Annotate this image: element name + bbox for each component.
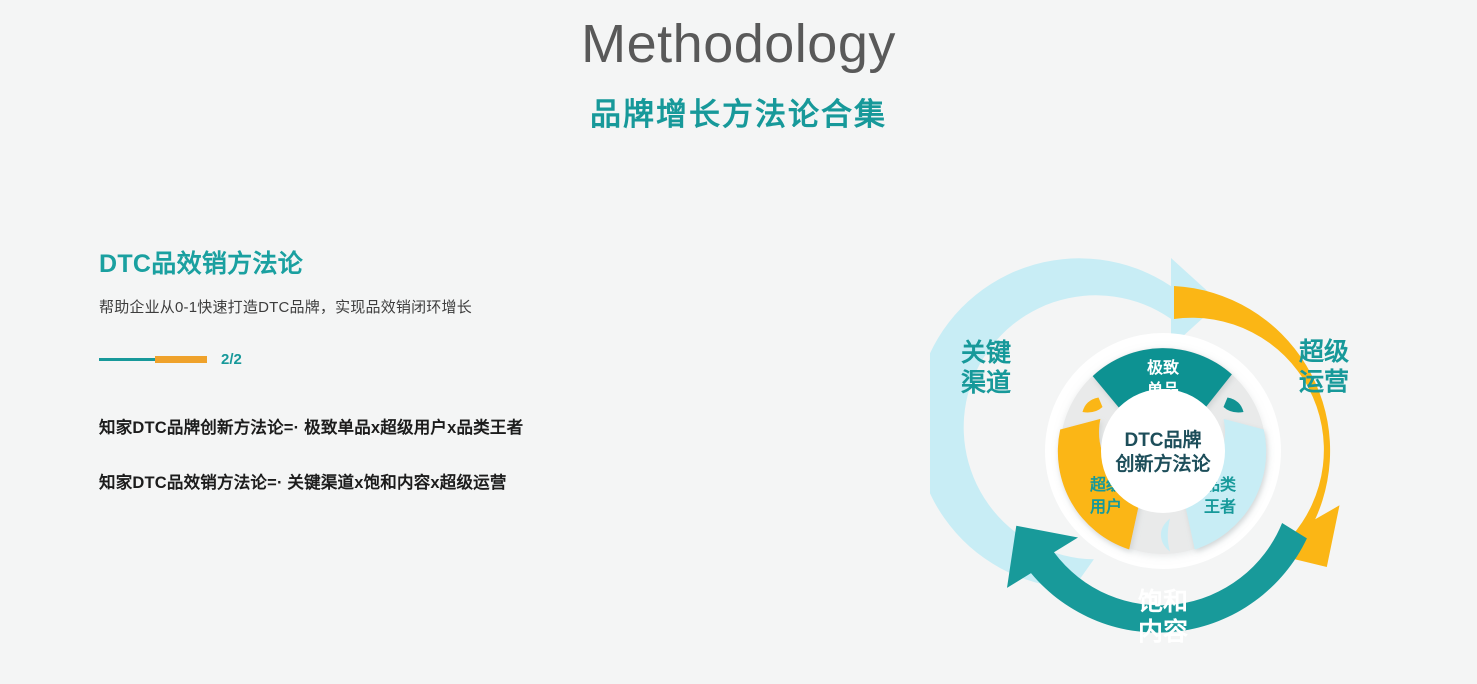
outer-label-saturated-content-line1: 饱和 [1138, 588, 1188, 616]
formula-brand-innovation: 知家DTC品牌创新方法论=· 极致单品x超级用户x品类王者 [99, 414, 659, 438]
cycle-diagram: 关键 渠道 超级 运营 饱和 内容 极致 单品 品类 [930, 218, 1396, 684]
outer-label-super-operation-line2: 运营 [1299, 368, 1349, 396]
outer-label-key-channel-line1: 关键 [961, 338, 1011, 367]
outer-label-super-operation-line1: 超级 [1299, 337, 1349, 366]
inner-label-category-king-line2: 王者 [1204, 497, 1236, 516]
hub-title-line2: 创新方法论 [1114, 452, 1211, 475]
methodology-info-panel: DTC品效销方法论 帮助企业从0-1快速打造DTC品牌，实现品效销闭环增长 2/… [99, 244, 659, 493]
formula-brand-sales: 知家DTC品效销方法论=· 关键渠道x饱和内容x超级运营 [99, 469, 659, 493]
progress-bar-fill [155, 356, 207, 363]
page-header: Methodology 品牌增长方法论合集 [0, 0, 1477, 134]
progress-counter: 2/2 [221, 351, 242, 368]
section-title: DTC品效销方法论 [99, 244, 659, 280]
hub-circle [1101, 389, 1225, 513]
hub-title-line1: DTC品牌 [1124, 428, 1201, 451]
page-subtitle: 品牌增长方法论合集 [0, 89, 1477, 134]
outer-label-saturated-content-line2: 内容 [1138, 617, 1188, 646]
section-description: 帮助企业从0-1快速打造DTC品牌，实现品效销闭环增长 [99, 296, 659, 317]
page-title: Methodology [0, 16, 1477, 73]
outer-label-key-channel-line2: 渠道 [961, 368, 1011, 397]
inner-label-super-user-line2: 用户 [1090, 497, 1122, 516]
progress-bar-track [99, 358, 155, 361]
inner-label-ultimate-product-line1: 极致 [1147, 358, 1180, 377]
progress-indicator: 2/2 [99, 350, 659, 368]
